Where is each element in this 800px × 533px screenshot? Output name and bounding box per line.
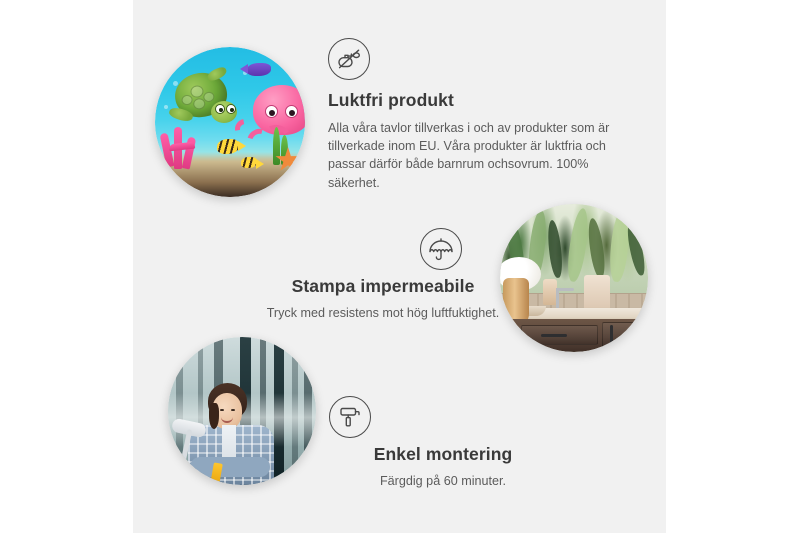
wooden-vanity: [509, 319, 648, 352]
woman-folded-arms: [190, 457, 270, 477]
feature-text-waterproof: Stampa impermeabile Tryck med resistens …: [213, 228, 553, 322]
faucet-icon: [556, 288, 559, 308]
feature-title-waterproof: Stampa impermeabile: [213, 276, 553, 298]
feature-description-easy-assembly: Färgdig på 60 minuter.: [293, 472, 593, 490]
infographic-canvas: Luktfri produkt Alla våra tavlor tillver…: [133, 0, 666, 533]
bubble-icon: [164, 105, 168, 109]
seaweed-icon: [273, 127, 280, 165]
striped-fish-icon: [217, 139, 239, 154]
feature-text-odour-free: Luktfri produkt Alla våra tavlor tillver…: [328, 38, 628, 192]
drawer-handle: [541, 334, 567, 337]
product-feature-infographic: Luktfri produkt Alla våra tavlor tillver…: [0, 0, 800, 533]
umbrella-icon: [420, 228, 462, 270]
feature-title-odour-free: Luktfri produkt: [328, 90, 628, 112]
striped-fish-icon: [241, 157, 257, 168]
drawer-handle: [610, 325, 613, 352]
cartoon-underwater-scene-photo: [155, 47, 305, 197]
feature-description-waterproof: Tryck med resistens mot hög luftfuktighe…: [213, 304, 553, 322]
feature-title-easy-assembly: Enkel montering: [293, 444, 593, 466]
purple-fish-icon: [247, 63, 271, 76]
no-fragrance-icon: [328, 38, 370, 80]
paint-roller-icon: [329, 396, 371, 438]
feature-text-easy-assembly: Enkel montering Färgdig på 60 minuter.: [293, 396, 593, 490]
feature-description-odour-free: Alla våra tavlor tillverkas i och av pro…: [328, 119, 620, 192]
octopus-eye: [265, 105, 278, 118]
woman-hair-strand: [209, 403, 219, 429]
turtle-eye: [215, 104, 225, 114]
turtle-eye: [226, 104, 236, 114]
octopus-eye: [285, 105, 298, 118]
